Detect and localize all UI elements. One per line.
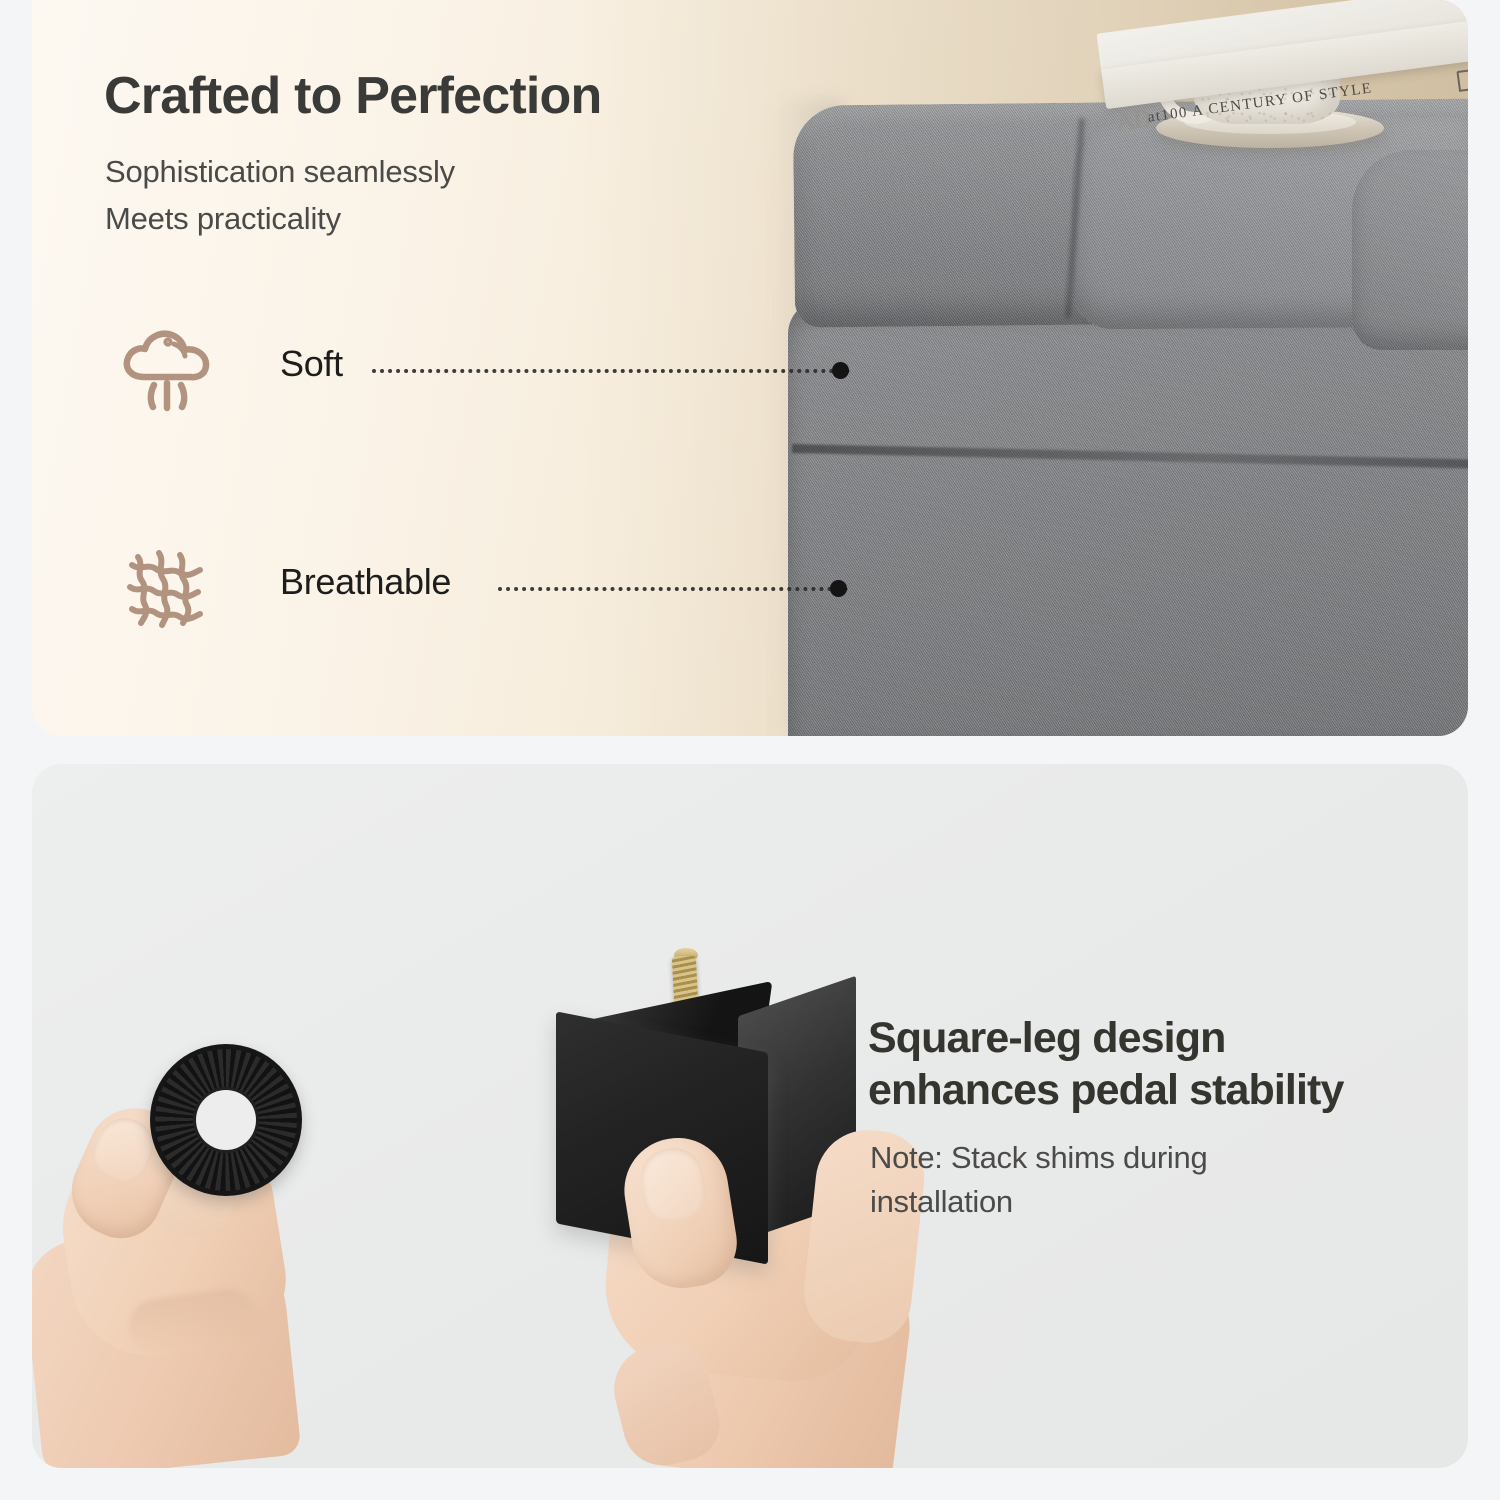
- square-leg-title-line-1: Square-leg design: [868, 1012, 1448, 1064]
- page-subtitle-line-2: Meets practicality: [105, 195, 455, 242]
- coffee-table-book: AD at100 A CENTURY OF STYLE: [1096, 0, 1468, 115]
- feature-breathable-label: Breathable: [280, 561, 451, 603]
- page-title: Crafted to Perfection: [104, 66, 602, 126]
- right-hand-holding-leg: [510, 996, 930, 1468]
- left-hand-holding-shim: [32, 1044, 392, 1468]
- book-imprint-logo: AD: [1114, 104, 1151, 138]
- page-subtitle: Sophistication seamlessly Meets practica…: [105, 148, 455, 243]
- cloud-rain-icon: [112, 315, 222, 425]
- leader-dot-breathable: [830, 580, 847, 597]
- page-subtitle-line-1: Sophistication seamlessly: [105, 148, 455, 195]
- ottoman-cushion-back: [1352, 150, 1468, 350]
- square-leg-panel: Square-leg design enhances pedal stabili…: [32, 764, 1468, 1468]
- shim-center-hole: [196, 1090, 256, 1150]
- leader-line-soft: [372, 369, 850, 377]
- leader-dot-soft: [832, 362, 849, 379]
- square-leg-title-line-2: enhances pedal stability: [868, 1064, 1448, 1116]
- square-leg-title: Square-leg design enhances pedal stabili…: [868, 1012, 1448, 1117]
- book-publisher-mark-icon: [1456, 68, 1468, 92]
- leader-line-breathable: [498, 587, 848, 595]
- square-leg-note: Note: Stack shims during installation: [870, 1136, 1340, 1224]
- ottoman-base: [788, 300, 1468, 736]
- woven-mesh-icon: [112, 533, 222, 643]
- feature-soft-label: Soft: [280, 343, 343, 385]
- crafted-to-perfection-panel: AD at100 A CENTURY OF STYLE Crafted to P…: [32, 0, 1468, 736]
